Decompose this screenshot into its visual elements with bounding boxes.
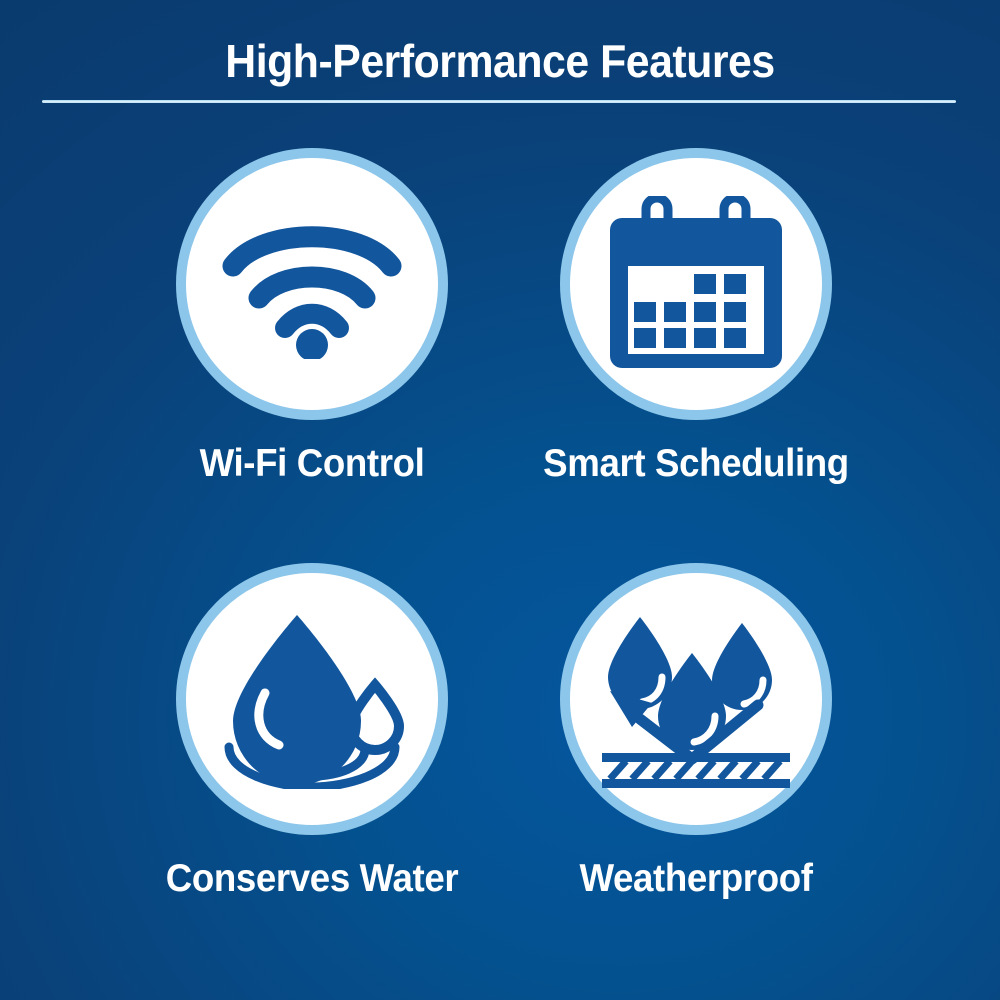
- feature-label-conserves-water: Conserves Water: [124, 857, 500, 901]
- feature-grid: Wi-Fi Control: [0, 140, 1000, 930]
- icon-badge-smart-scheduling: [560, 148, 832, 420]
- water-repellent-surface-icon: [596, 609, 796, 789]
- icon-badge-weatherproof: [560, 563, 832, 835]
- page-title: High-Performance Features: [35, 34, 965, 88]
- feature-panel: High-Performance Features Wi-Fi Control: [0, 0, 1000, 1000]
- feature-label-smart-scheduling: Smart Scheduling: [508, 442, 884, 486]
- icon-badge-conserves-water: [176, 563, 448, 835]
- feature-card-weatherproof[interactable]: Weatherproof: [496, 563, 896, 901]
- feature-card-wifi-control[interactable]: Wi-Fi Control: [112, 148, 512, 486]
- droplet-top-right: [712, 623, 772, 710]
- feature-card-conserves-water[interactable]: Conserves Water: [112, 563, 512, 901]
- title-divider: [42, 100, 956, 103]
- feature-label-wifi-control: Wi-Fi Control: [124, 442, 500, 486]
- feature-label-weatherproof: Weatherproof: [508, 857, 884, 901]
- calendar-icon: [606, 196, 786, 372]
- icon-badge-wifi-control: [176, 148, 448, 420]
- water-drop-ripple-icon: [215, 609, 409, 789]
- surface-bar: [602, 753, 790, 788]
- header: High-Performance Features: [0, 0, 1000, 118]
- feature-card-smart-scheduling[interactable]: Smart Scheduling: [496, 148, 896, 486]
- wifi-icon: [219, 209, 405, 359]
